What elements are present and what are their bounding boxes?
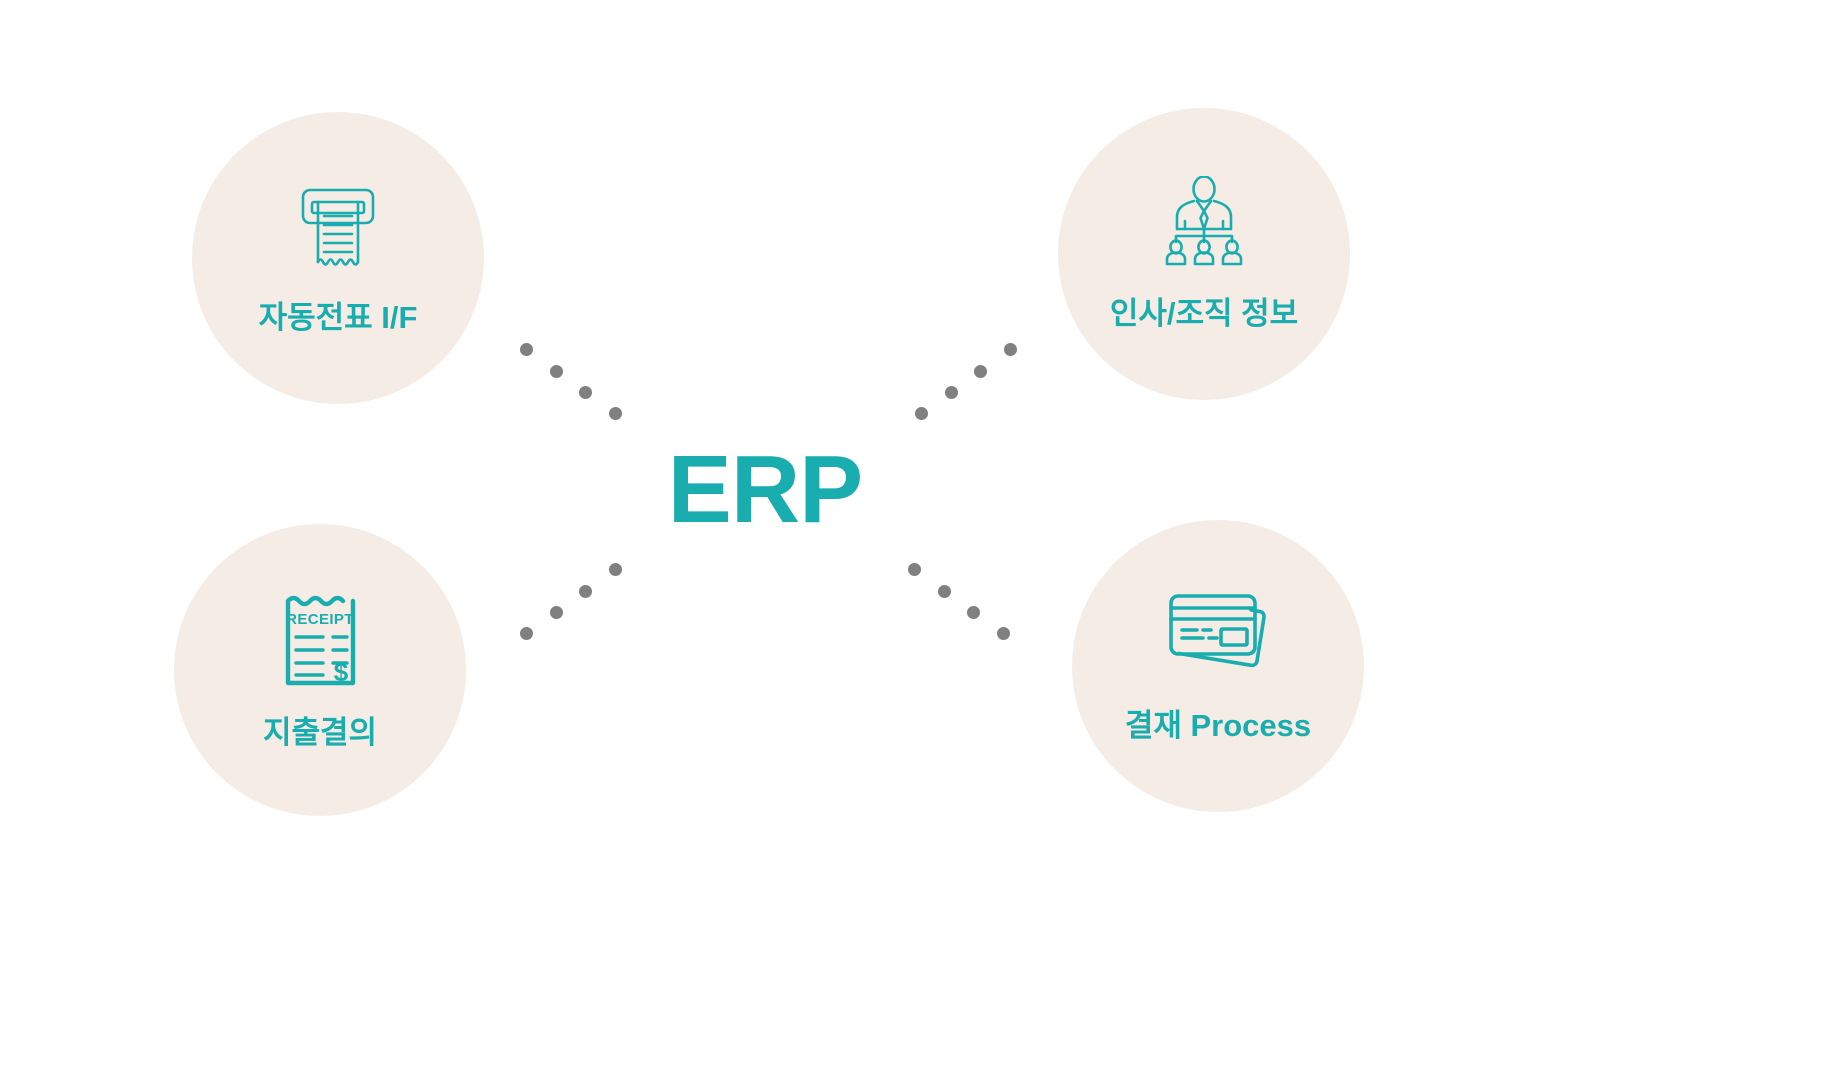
connector-auto-slip-to-erp	[520, 335, 630, 425]
erp-diagram-canvas: 자동전표 I/F	[0, 0, 1830, 1073]
connector-dot	[974, 365, 987, 378]
node-expense[interactable]: RECEIPT $ 지출결의	[174, 524, 466, 816]
connector-dot	[945, 386, 958, 399]
node-label-approval: 결재 Process	[1125, 700, 1311, 745]
connector-approval-to-erp	[908, 555, 1018, 645]
connector-dot	[997, 627, 1010, 640]
svg-text:RECEIPT: RECEIPT	[286, 611, 354, 628]
node-label-auto-slip: 자동전표 I/F	[259, 292, 418, 337]
connector-dot	[520, 627, 533, 640]
connector-dot	[579, 386, 592, 399]
connector-dot	[938, 585, 951, 598]
node-auto-slip[interactable]: 자동전표 I/F	[192, 112, 484, 404]
connector-hr-org-to-erp	[915, 335, 1025, 425]
svg-text:$: $	[334, 657, 349, 687]
org-chart-icon	[1154, 176, 1254, 268]
erp-hub: ERP	[640, 430, 890, 550]
connector-dot	[550, 365, 563, 378]
erp-hub-label: ERP	[668, 442, 862, 538]
receipt-printer-icon	[290, 180, 386, 276]
node-approval[interactable]: 결재 Process	[1072, 520, 1364, 812]
connector-dot	[908, 563, 921, 576]
connector-dot	[967, 606, 980, 619]
connector-dot	[609, 407, 622, 420]
node-hr-org[interactable]: 인사/조직 정보	[1058, 108, 1350, 400]
connector-dot	[1004, 343, 1017, 356]
connector-dot	[579, 585, 592, 598]
connector-expense-to-erp	[520, 555, 630, 645]
receipt-dollar-icon: RECEIPT $	[275, 589, 365, 689]
connector-dot	[550, 606, 563, 619]
connector-dot	[609, 563, 622, 576]
credit-cards-icon	[1163, 588, 1273, 680]
node-label-hr-org: 인사/조직 정보	[1110, 288, 1298, 333]
connector-dot	[915, 407, 928, 420]
connector-dot	[520, 343, 533, 356]
node-label-expense: 지출결의	[263, 707, 377, 752]
